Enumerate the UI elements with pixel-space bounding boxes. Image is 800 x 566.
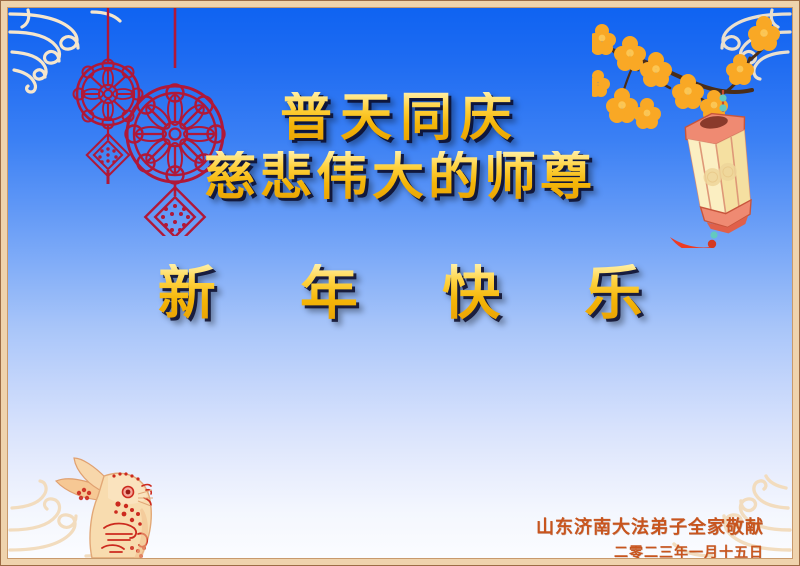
title-line-1: 普天同庆 bbox=[8, 92, 792, 144]
greeting-card: 普天同庆 慈悲伟大的师尊 新 年 快 乐 山东济南大法弟子全家敬献 二零二三年一… bbox=[0, 0, 800, 566]
folk-art-rabbit bbox=[46, 448, 176, 558]
lantern-tassel bbox=[670, 231, 718, 248]
title-line-3: 新 年 快 乐 bbox=[8, 264, 792, 322]
corner-scroll-ornament-bottom-right bbox=[642, 438, 792, 558]
card-background-sky: 普天同庆 慈悲伟大的师尊 新 年 快 乐 山东济南大法弟子全家敬献 二零二三年一… bbox=[8, 8, 792, 558]
signature-date: 二零二三年一月十五日 bbox=[614, 542, 764, 558]
signature-name: 山东济南大法弟子全家敬献 bbox=[536, 513, 764, 539]
title-line-2: 慈悲伟大的师尊 bbox=[8, 151, 792, 203]
